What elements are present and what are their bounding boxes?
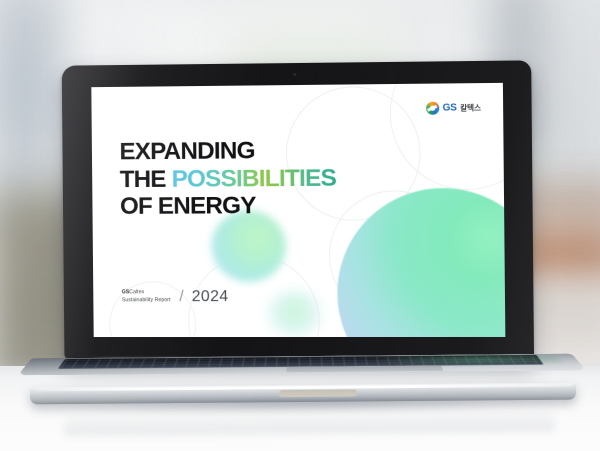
footer-separator: / (179, 288, 184, 306)
footer-company-rest: Caltex (129, 289, 144, 295)
footer-report-label: GSCaltex Sustainability Report (122, 288, 171, 304)
footer-report-type: Sustainability Report (122, 296, 171, 304)
laptop-screen[interactable]: GS 칼텍스 EXPANDING THE POSSIBILITIES OF EN… (91, 83, 505, 337)
logo-brand-korean: 칼텍스 (460, 102, 481, 113)
presentation-slide[interactable]: GS 칼텍스 EXPANDING THE POSSIBILITIES OF EN… (91, 83, 505, 337)
lid-open-notch (279, 390, 357, 398)
large-gradient-sphere (336, 187, 505, 337)
laptop: GS 칼텍스 EXPANDING THE POSSIBILITIES OF EN… (0, 0, 600, 451)
small-gradient-sphere (211, 210, 286, 282)
laptop-base (24, 350, 581, 425)
footer-company-bold: GS (122, 289, 130, 295)
desk-reflection (64, 406, 554, 436)
footer-company: GSCaltex (122, 288, 171, 296)
gs-caltex-emblem-icon (426, 102, 439, 115)
tiny-gradient-sphere (267, 291, 321, 337)
webcam-icon (293, 73, 296, 76)
headline-line-2-prefix: THE (120, 166, 172, 193)
gs-caltex-logo: GS 칼텍스 (426, 101, 481, 115)
slide-headline: EXPANDING THE POSSIBILITIES OF ENERGY (119, 137, 336, 221)
headline-line-1: EXPANDING (119, 137, 336, 166)
keyboard-deck (18, 354, 586, 376)
slide-footer: GSCaltex Sustainability Report / 2024 (122, 287, 229, 305)
decorative-ring-4 (389, 83, 505, 191)
headline-line-2: THE POSSIBILITIES (120, 164, 337, 193)
decorative-ring-2 (328, 190, 460, 321)
headline-gradient-word: POSSIBILITIES (172, 164, 337, 192)
laptop-lid: GS 칼텍스 EXPANDING THE POSSIBILITIES OF EN… (62, 60, 534, 360)
footer-year: 2024 (192, 288, 229, 306)
headline-line-3: OF ENERGY (120, 192, 337, 221)
logo-brand-text: GS (443, 102, 457, 113)
trackpad[interactable] (286, 365, 444, 372)
screenshot-scene: GS 칼텍스 EXPANDING THE POSSIBILITIES OF EN… (0, 0, 600, 451)
